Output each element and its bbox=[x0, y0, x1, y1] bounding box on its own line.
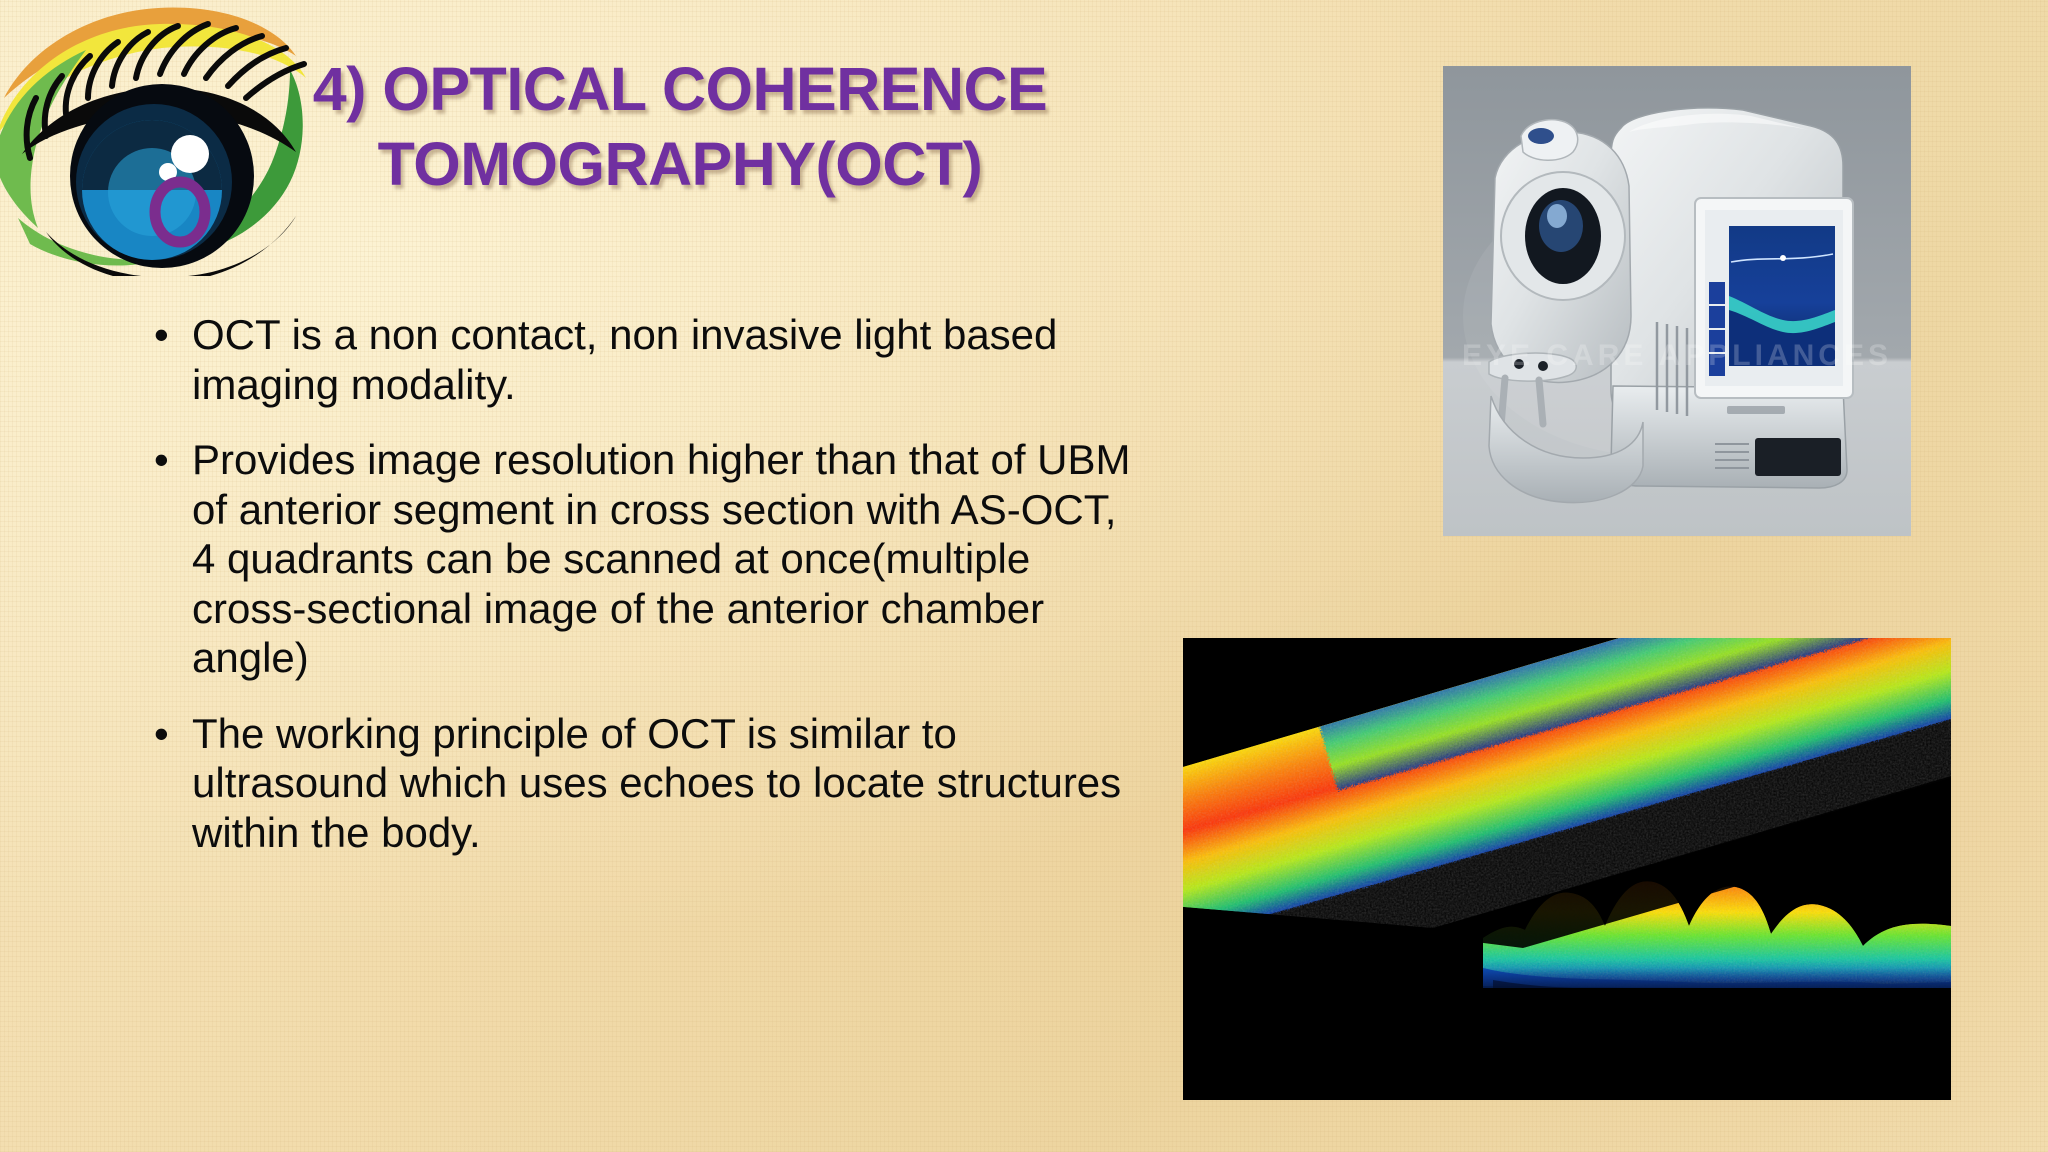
oct-marker bbox=[1780, 255, 1786, 261]
eye-logo bbox=[0, 0, 310, 276]
oct-machine-photo: EYE CARE APPLIANCES bbox=[1443, 66, 1911, 536]
bullet-list: • OCT is a non contact, non invasive lig… bbox=[148, 310, 1148, 883]
bullet-text: Provides image resolution higher than th… bbox=[192, 435, 1148, 683]
lens-glint bbox=[1547, 204, 1567, 228]
bullet-marker: • bbox=[154, 310, 169, 360]
oct-anterior-segment-scan bbox=[1183, 638, 1951, 1100]
bullet-marker: • bbox=[154, 435, 169, 485]
model-label bbox=[1727, 406, 1785, 414]
knob-indicator bbox=[1528, 128, 1554, 144]
bullet-text: The working principle of OCT is similar … bbox=[192, 709, 1148, 858]
list-item: • OCT is a non contact, non invasive lig… bbox=[148, 310, 1148, 409]
list-item: • The working principle of OCT is simila… bbox=[148, 709, 1148, 858]
highlight-large bbox=[171, 135, 209, 173]
scan-fade bbox=[1183, 968, 1951, 1008]
eye-logo-svg bbox=[0, 0, 310, 276]
list-item: • Provides image resolution higher than … bbox=[148, 435, 1148, 683]
lower-panel bbox=[1755, 438, 1841, 476]
slide-canvas: 4) OPTICAL COHERENCE TOMOGRAPHY(OCT) • O… bbox=[0, 0, 2048, 1152]
bullet-marker: • bbox=[154, 709, 169, 759]
page-title: 4) OPTICAL COHERENCE TOMOGRAPHY(OCT) bbox=[300, 52, 1060, 202]
oct-scan-svg bbox=[1183, 638, 1951, 1100]
bullet-text: OCT is a non contact, non invasive light… bbox=[192, 310, 1148, 409]
oct-machine-svg bbox=[1443, 66, 1911, 536]
photo-watermark: EYE CARE APPLIANCES bbox=[1443, 339, 1911, 373]
